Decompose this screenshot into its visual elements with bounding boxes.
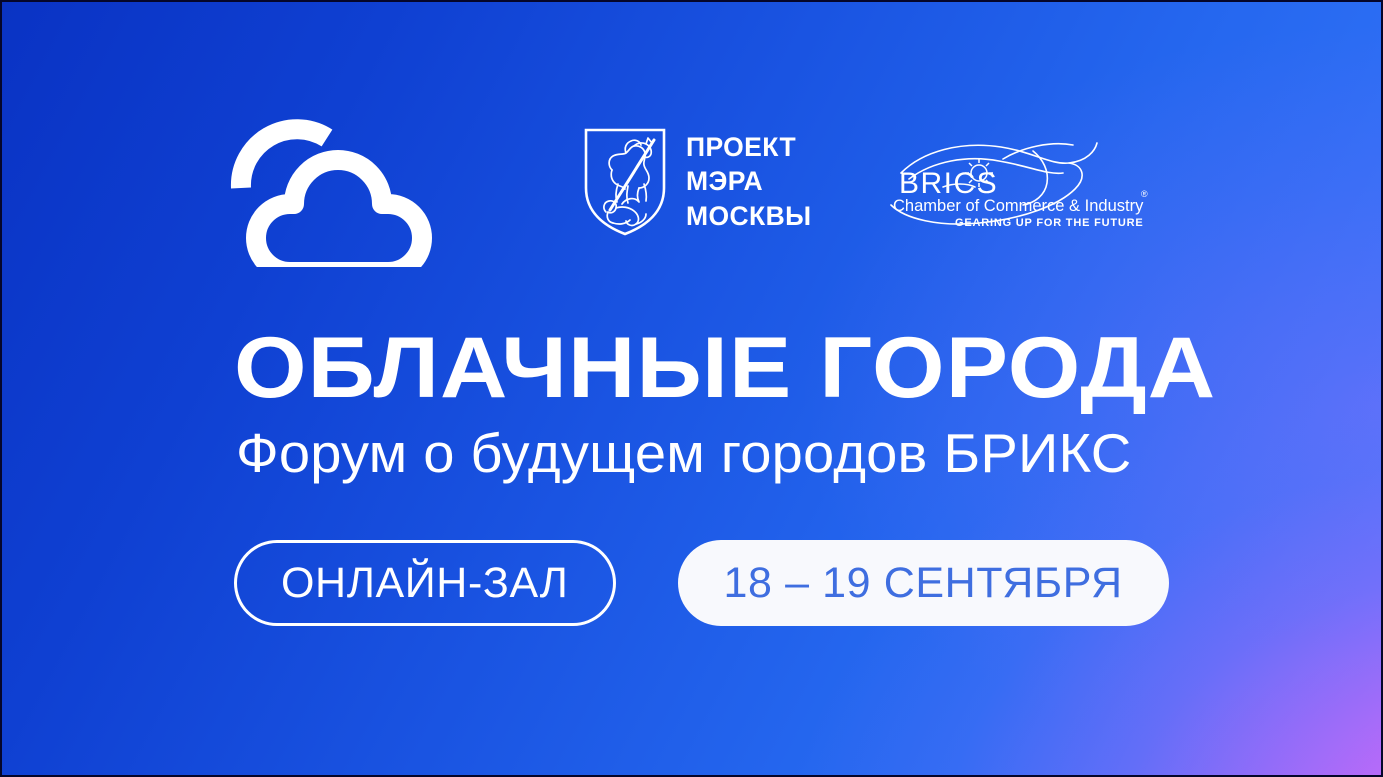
logo-row: ПРОЕКТ МЭРА МОСКВЫ	[224, 102, 1163, 267]
moscow-logo-line-3: МОСКВЫ	[686, 199, 811, 233]
brics-bird-gear-swoosh-icon: BRICS Chamber of Commerce & Industry ® G…	[883, 133, 1163, 233]
page-subtitle: Форум о будущем городов БРИКС	[236, 426, 1131, 481]
brics-tagline: Chamber of Commerce & Industry	[893, 197, 1144, 215]
moscow-coat-of-arms-shield-icon	[582, 126, 668, 238]
poster-stage: ПРОЕКТ МЭРА МОСКВЫ	[2, 2, 1383, 777]
moscow-mayor-project-logo: ПРОЕКТ МЭРА МОСКВЫ	[582, 126, 811, 238]
moscow-logo-line-1: ПРОЕКТ	[686, 130, 811, 164]
brics-chamber-logo: BRICS Chamber of Commerce & Industry ® G…	[883, 133, 1163, 233]
cloud-with-arc-icon	[224, 102, 464, 267]
moscow-logo-line-2: МЭРА	[686, 164, 811, 198]
moscow-logo-text: ПРОЕКТ МЭРА МОСКВЫ	[686, 130, 811, 233]
event-poster: ПРОЕКТ МЭРА МОСКВЫ	[0, 0, 1383, 777]
pill-row: ОНЛАЙН-ЗАЛ 18 – 19 СЕНТЯБРЯ	[234, 540, 1169, 626]
page-title: ОБЛАЧНЫЕ ГОРОДА	[234, 325, 1243, 411]
dates-pill[interactable]: 18 – 19 СЕНТЯБРЯ	[678, 540, 1169, 626]
brics-slogan: GEARING UP FOR THE FUTURE	[955, 217, 1143, 229]
brics-registered-mark: ®	[1141, 189, 1148, 199]
brics-wordmark: BRICS	[899, 167, 998, 200]
venue-pill[interactable]: ОНЛАЙН-ЗАЛ	[234, 540, 616, 626]
